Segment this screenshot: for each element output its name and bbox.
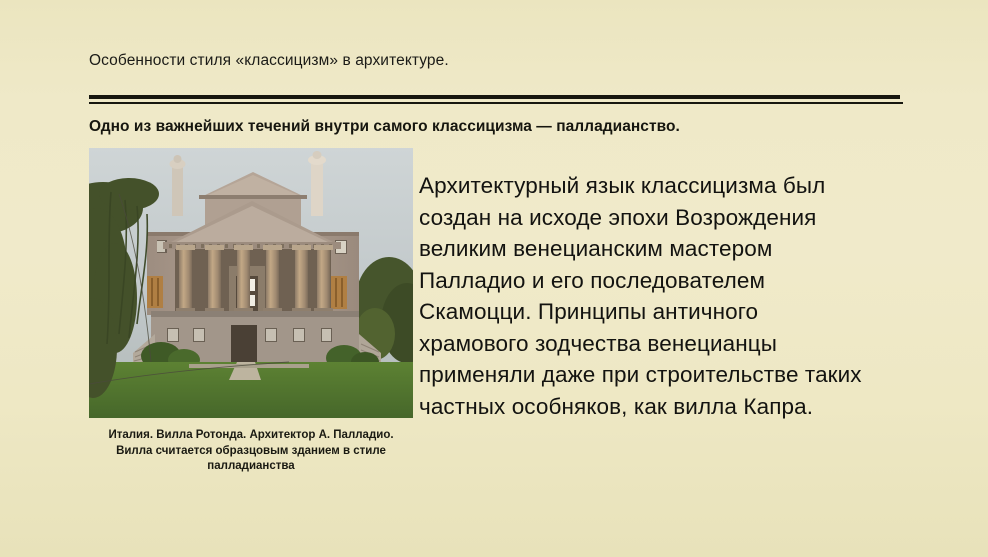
- body-line-6: храмового зодчества венецианцы: [419, 328, 929, 360]
- body-line-3: великим венецианским мастером: [419, 233, 929, 265]
- body-line-5: Скамоцци. Принципы античного: [419, 296, 929, 328]
- body-line-7: применяли даже при строительстве таких: [419, 359, 929, 391]
- body-line-8: частных особняков, как вилла Капра.: [419, 391, 929, 423]
- header-divider: [89, 95, 902, 107]
- body-line-1: Архитектурный язык классицизма был: [419, 170, 929, 202]
- caption-line-3: палладианства: [80, 459, 422, 475]
- page-title: Особенности стиля «классицизм» в архитек…: [89, 52, 449, 70]
- body-line-2: создан на исходе эпохи Возрождения: [419, 202, 929, 234]
- body-text: Архитектурный язык классицизма был созда…: [419, 170, 929, 422]
- caption-line-1: Италия. Вилла Ротонда. Архитектор А. Пал…: [80, 428, 422, 444]
- photo-caption: Италия. Вилла Ротонда. Архитектор А. Пал…: [80, 428, 422, 475]
- presentation-slide: Особенности стиля «классицизм» в архитек…: [0, 0, 988, 557]
- villa-illustration: [89, 148, 413, 418]
- caption-line-2: Вилла считается образцовым здани­ем в ст…: [80, 444, 422, 460]
- villa-rotonda-photograph: [89, 148, 413, 418]
- divider-thick-rule: [89, 95, 900, 99]
- body-line-4: Палладио и его последователем: [419, 265, 929, 297]
- divider-thin-rule: [89, 102, 903, 104]
- subtitle: Одно из важнейших течений внутри самого …: [89, 118, 680, 136]
